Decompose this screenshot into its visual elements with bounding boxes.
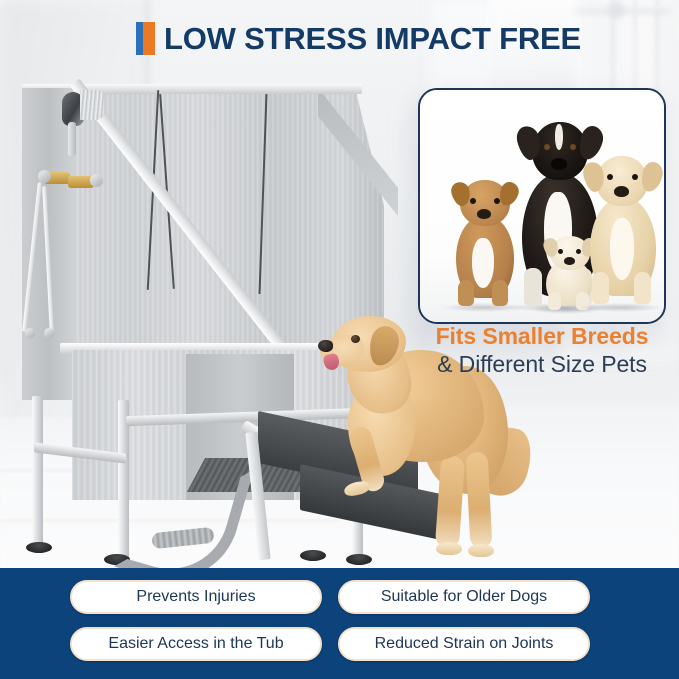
rubber-foot: [26, 542, 52, 553]
dog-leg: [548, 292, 561, 310]
dog-eye: [570, 144, 576, 150]
tub-leg: [32, 396, 43, 548]
dog-leg: [458, 280, 474, 306]
dog-blaze-marking: [555, 124, 563, 150]
dog-ear: [639, 160, 665, 194]
dog-nose: [551, 158, 567, 170]
inset-dog-golden-puppy: [582, 152, 664, 308]
caption-line-primary: Fits Smaller Breeds: [418, 324, 666, 350]
accent-bar-icon: [136, 22, 155, 55]
dog-chest-marking: [610, 218, 634, 280]
dog-eye: [544, 144, 550, 150]
valve-cap: [38, 170, 51, 183]
dog-chest-marking: [472, 238, 494, 288]
dog-eye: [470, 198, 476, 204]
dog-leg: [592, 272, 609, 304]
dog-paw: [343, 479, 371, 498]
benefit-pill[interactable]: Prevents Injuries: [70, 580, 322, 614]
benefit-pill[interactable]: Easier Access in the Tub: [70, 627, 322, 661]
dog-nose: [564, 257, 575, 265]
dog-eye: [558, 249, 563, 254]
dog-nose: [477, 209, 491, 219]
sprayer-fan: [80, 90, 104, 120]
towel-rail-knob: [608, 2, 624, 18]
dog-paw: [468, 544, 494, 557]
dog-eye: [607, 174, 613, 180]
hose-fitting: [25, 328, 35, 338]
dog-eye: [576, 249, 581, 254]
valve-cap: [90, 174, 103, 187]
caption-line-secondary: & Different Size Pets: [418, 352, 666, 378]
headline: LOW STRESS IMPACT FREE: [136, 22, 581, 55]
dog-eye: [351, 335, 360, 343]
dog-leg: [634, 272, 651, 304]
dog-eye: [632, 174, 638, 180]
dog-paw: [436, 542, 462, 555]
product-marketing-image: LOW STRESS IMPACT FREE: [0, 0, 679, 679]
dog-nose: [614, 186, 629, 197]
inset-caption: Fits Smaller Breeds & Different Size Pet…: [418, 324, 666, 378]
sprayer-grip: [68, 122, 76, 156]
benefits-banner: Prevents Injuries Suitable for Older Dog…: [0, 568, 679, 679]
dog-head: [596, 156, 648, 206]
dog-leg: [492, 280, 508, 306]
inset-dog-size-panel: [418, 88, 666, 324]
dog-eye: [494, 198, 500, 204]
headline-text: LOW STRESS IMPACT FREE: [164, 23, 581, 54]
dog-nose: [318, 340, 333, 352]
benefit-pill[interactable]: Suitable for Older Dogs: [338, 580, 590, 614]
dog-hind-leg: [435, 455, 465, 548]
benefit-pill-grid: Prevents Injuries Suitable for Older Dog…: [70, 580, 590, 661]
hose-fitting: [44, 328, 54, 338]
benefit-pill[interactable]: Reduced Strain on Joints: [338, 627, 590, 661]
